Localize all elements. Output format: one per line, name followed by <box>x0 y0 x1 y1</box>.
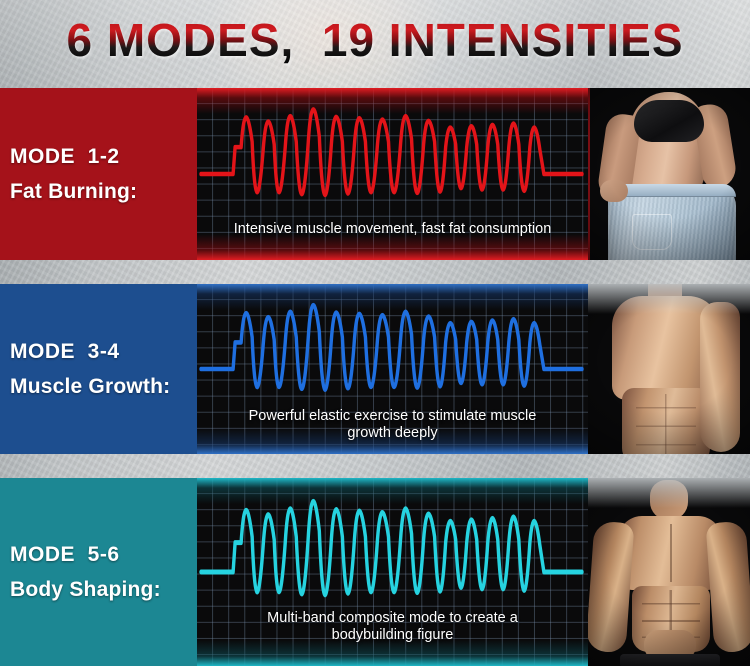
photo-vignette-1 <box>588 88 750 260</box>
mode-title-label-2: Muscle Growth: <box>10 375 197 399</box>
page-title: 6 MODES, 19 INTENSITIES <box>0 14 750 66</box>
mode-label-pane-1: MODE 1-2 Fat Burning: <box>0 88 197 260</box>
mode-photo-3 <box>588 478 750 666</box>
waveform-scope-2: Powerful elastic exercise to stimulate m… <box>197 284 588 454</box>
mode-photo-1 <box>588 88 750 260</box>
mode-photo-2 <box>588 284 750 454</box>
mode-caption-2: Powerful elastic exercise to stimulate m… <box>197 408 588 442</box>
mode-number-label-3: MODE 5-6 <box>10 543 197 567</box>
mode-title-label-1: Fat Burning: <box>10 180 197 204</box>
mode-row-body-shaping: MODE 5-6 Body Shaping: Multi-band compos… <box>0 478 750 666</box>
photo-top-light-2 <box>588 284 750 314</box>
mode-label-pane-3: MODE 5-6 Body Shaping: <box>0 478 197 666</box>
mode-number-label-1: MODE 1-2 <box>10 145 197 169</box>
mode-label-pane-2: MODE 3-4 Muscle Growth: <box>0 284 197 454</box>
waveform-scope-1: Intensive muscle movement, fast fat cons… <box>197 88 588 260</box>
mode-caption-1: Intensive muscle movement, fast fat cons… <box>197 221 588 238</box>
mode-title-label-3: Body Shaping: <box>10 578 197 602</box>
mode-row-fat-burning: MODE 1-2 Fat Burning: Intensive muscle m… <box>0 88 750 260</box>
photo-top-light-3 <box>588 478 750 508</box>
mode-number-label-2: MODE 3-4 <box>10 340 197 364</box>
waveform-scope-3: Multi-band composite mode to create a bo… <box>197 478 588 666</box>
mode-row-muscle-growth: MODE 3-4 Muscle Growth: Powerful elastic… <box>0 284 750 454</box>
mode-caption-3: Multi-band composite mode to create a bo… <box>197 610 588 644</box>
